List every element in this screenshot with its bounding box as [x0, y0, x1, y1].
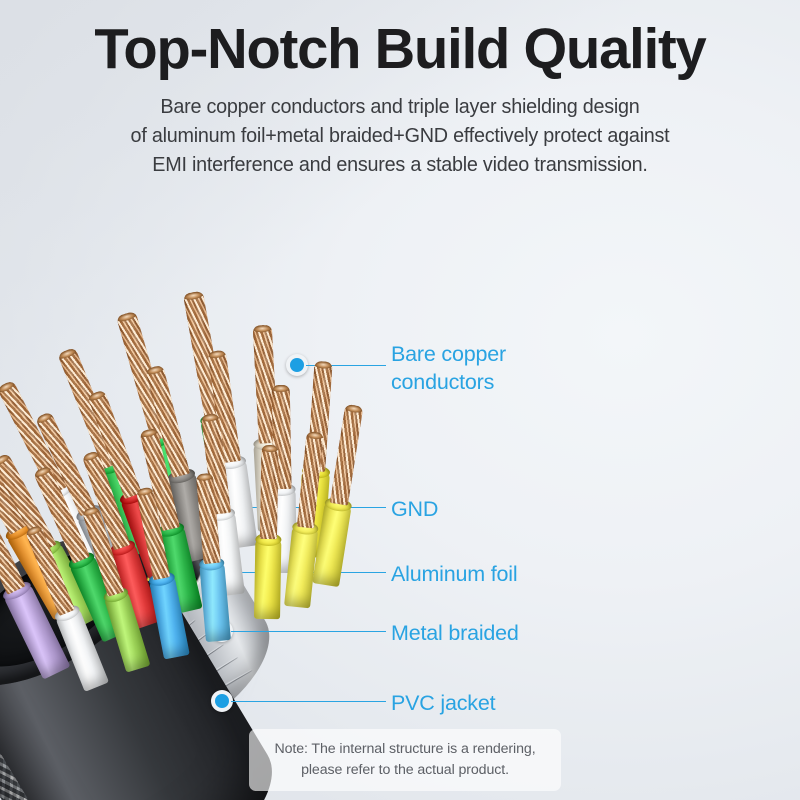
callout-label: PVC jacket	[391, 689, 495, 717]
bare-copper-conductor	[329, 404, 362, 506]
subtitle-line-1: Bare copper conductors and triple layer …	[14, 92, 786, 121]
callout-marker-icon[interactable]	[211, 690, 233, 712]
subtitle-line-2: of aluminum foil+metal braided+GND effec…	[14, 121, 786, 150]
callout-leader-line	[231, 701, 386, 702]
bare-copper-conductor	[195, 473, 220, 564]
disclaimer-note: Note: The internal structure is a render…	[249, 729, 561, 791]
callout-label-line-2: conductors	[391, 368, 506, 396]
bare-copper-conductor	[297, 431, 324, 528]
callout-label-line-1: Aluminum foil	[391, 560, 517, 588]
callout-leader-line	[231, 631, 386, 632]
wire-bundle	[40, 185, 430, 605]
page-title: Top-Notch Build Quality	[6, 20, 794, 80]
callout-label-line-1: PVC jacket	[391, 689, 495, 717]
callout-label: Metal braided	[391, 619, 519, 647]
note-line-2: please refer to the actual product.	[261, 760, 549, 781]
callout-marker-icon[interactable]	[286, 354, 308, 376]
callout-label-line-1: Metal braided	[391, 619, 519, 647]
product-infographic: Top-Notch Build Quality Bare copper cond…	[0, 0, 800, 800]
insulated-wire	[254, 445, 283, 619]
note-line-1: Note: The internal structure is a render…	[261, 739, 549, 760]
callout-label-line-1: Bare copper	[391, 340, 506, 368]
callout-label: GND	[391, 495, 438, 523]
callout-label: Aluminum foil	[391, 560, 517, 588]
subtitle-line-3: EMI interference and ensures a stable vi…	[14, 150, 786, 179]
header: Top-Notch Build Quality Bare copper cond…	[0, 0, 800, 179]
callout-label-line-1: GND	[391, 495, 438, 523]
bare-copper-conductor	[260, 445, 279, 539]
callout-label: Bare copper conductors	[391, 340, 506, 397]
wire-insulation	[254, 539, 281, 619]
subtitle: Bare copper conductors and triple layer …	[14, 92, 786, 179]
